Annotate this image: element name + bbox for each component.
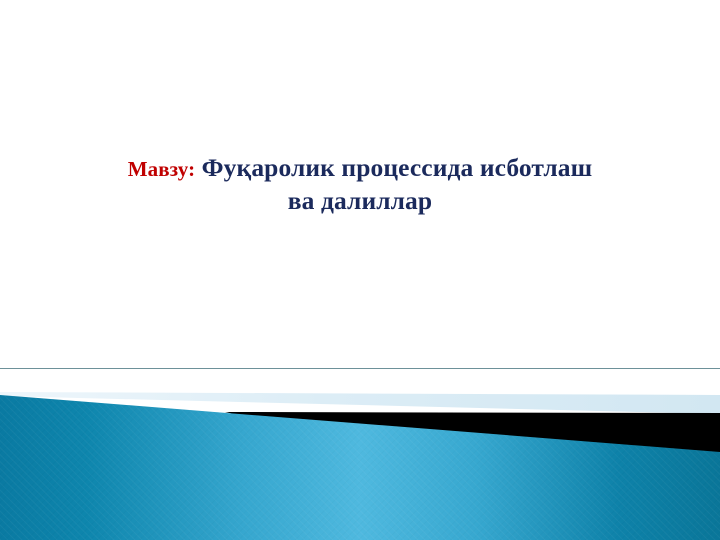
divider-line xyxy=(0,368,720,369)
presentation-slide: Мавзу: Фуқаролик процессида исботлаш ва … xyxy=(0,0,720,540)
slide-title: Мавзу: Фуқаролик процессида исботлаш ва … xyxy=(72,152,648,217)
title-text-line-2: ва далиллар xyxy=(72,185,648,218)
decoration-shapes xyxy=(0,374,720,540)
topic-label: Мавзу: xyxy=(128,157,195,181)
title-text-line-1: Фуқаролик процессида исботлаш xyxy=(195,153,592,182)
title-line-1: Мавзу: Фуқаролик процессида исботлаш xyxy=(72,152,648,185)
bottom-decoration xyxy=(0,374,720,540)
